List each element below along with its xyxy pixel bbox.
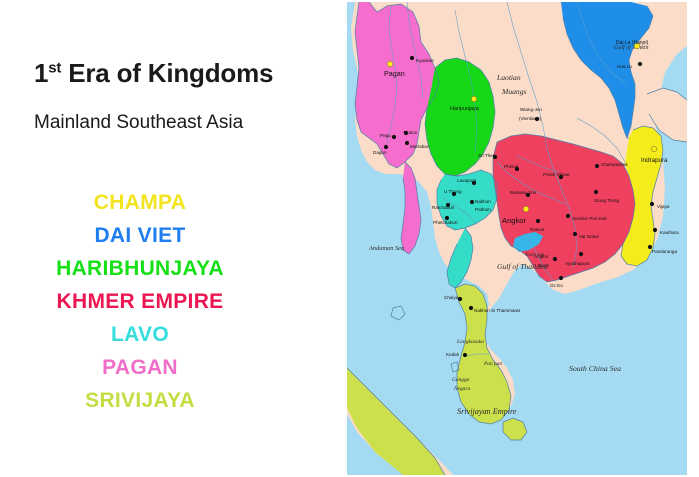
city-label-phimai: Phimai: [504, 164, 518, 169]
city-label-pathom: Pathom: [475, 207, 491, 212]
city-label-vijaya: Vijaya: [657, 204, 670, 209]
city-label-panduranga: Panduranga: [652, 249, 677, 254]
city-marker-stung-treng: [594, 190, 598, 194]
kingdom-legend: CHAMPA DAI VIET HARIBHUNJAYA KHMER EMPIR…: [0, 192, 300, 423]
title-ordinal: st: [48, 59, 61, 76]
city-marker-sembor-prei-kuk: [566, 214, 570, 218]
city-label-lavapura: Lavapura: [457, 178, 477, 183]
city-label-kauthara: Kauthara: [660, 230, 679, 235]
city-label-chaiya: Chaiya: [444, 295, 459, 300]
city-label-vat-nokor: Vat Nokor: [579, 234, 600, 239]
city-marker-kauthara: [653, 228, 657, 232]
legend-label: DAI VIET: [94, 224, 185, 247]
city-marker-champassak: [595, 164, 599, 168]
capital-label-pagan: Pagan: [384, 69, 405, 78]
legend-label: HARIBHUNJAYA: [56, 257, 224, 280]
legend-item-khmer-empire: KHMER EMPIRE: [0, 291, 280, 312]
city-marker-roluos: [536, 219, 540, 223]
city-label-pegu: Pegu: [380, 133, 391, 138]
city-label-hoa-lu: Hoa Lu: [617, 64, 632, 69]
city-label-nakhon-si-thammarat: Nakhon Si Thammarat: [474, 308, 521, 313]
capital-label-indrapura: Indrapura: [641, 157, 668, 164]
region-label-gangga: Gangga: [452, 377, 470, 383]
city-marker-kedah: [463, 353, 467, 357]
capital-marker-indrapura: [651, 146, 657, 152]
subtitle: Mainland Southeast Asia: [34, 110, 284, 135]
legend-item-dai-viet: DAI VIET: [0, 225, 280, 246]
legend-item-haribhunjaya: HARIBHUNJAYA: [0, 258, 280, 279]
slide-root: 1st Era of Kingdoms Mainland Southeast A…: [0, 0, 699, 477]
city-label-wiang-jun: Wiang-Jun: [520, 107, 542, 112]
city-marker-nakhon: [470, 200, 474, 204]
city-marker-nakhon-si-thammarat: [469, 306, 473, 310]
city-label-preah-vihear: Preah Vihear: [543, 172, 570, 177]
city-label-nakhon: Nakhon: [475, 199, 491, 204]
region-label-laotian: Laotian: [496, 73, 521, 82]
city-label-oc-eo: Oc Eo: [550, 283, 563, 288]
city-label-ratchaburi: Ratchaburi: [432, 205, 454, 210]
region-label-negara: Negara: [453, 386, 470, 392]
title-main: Era of Kingdoms: [68, 58, 273, 88]
city-marker-hoa-lu: [638, 62, 642, 66]
city-label-champassak: Champassak: [601, 162, 629, 167]
city-label-kyaukse: Kyaukse: [416, 58, 434, 63]
city-label-stung-treng: Stung Treng: [594, 198, 619, 203]
legend-label: PAGAN: [102, 356, 178, 379]
capital-marker-angkor: [523, 206, 529, 212]
city-label-roluos: Roluos: [530, 227, 545, 232]
city-label-angkor: Angkor: [534, 254, 549, 259]
region-label-pan-pan: Pan pan: [483, 361, 502, 367]
text-panel: 1st Era of Kingdoms Mainland Southeast A…: [0, 0, 345, 477]
legend-item-lavo: LAVO: [0, 324, 280, 345]
city-marker-vat-nokor: [573, 232, 577, 236]
city-label-sri-thep: Sri Thep: [478, 153, 496, 158]
city-label-vientiane: (Vientiane): [519, 116, 542, 121]
region-label-langkasuka: Langkasuka: [456, 339, 484, 345]
city-label-sembor-prei-kuk: Sembor Prei Kuk: [572, 216, 607, 221]
legend-label: CHAMPA: [94, 191, 186, 214]
city-marker-vijaya: [650, 202, 654, 206]
city-label-thaton: Thaton: [403, 130, 418, 135]
region-label-muangs: Muangs: [501, 87, 527, 96]
title-number: 1: [34, 58, 48, 88]
city-label-dagon: Dagon: [373, 150, 387, 155]
legend-item-srivijaya: SRIVIJAYA: [0, 390, 280, 411]
city-marker-kyaukse: [410, 56, 414, 60]
city-marker-chaiya: [458, 297, 462, 301]
region-label-srivijayan-empire: Srivijayan Empire: [457, 407, 517, 416]
capital-label-haripunjaya: Haripunjaya: [450, 106, 479, 112]
city-marker-dagon: [384, 145, 388, 149]
city-label-u-thong: U Thong: [444, 189, 462, 194]
city-label-banteay-srei: Banteay Srei: [510, 190, 536, 195]
city-marker-angkor: [553, 257, 557, 261]
legend-item-champa: CHAMPA: [0, 192, 280, 213]
city-label-borei: Borei: [538, 263, 549, 268]
capital-label-dai-la-hanoi: Dai La (Hanoi): [616, 40, 649, 46]
capital-label-angkor: Angkor: [502, 216, 527, 225]
capital-marker-pagan: [387, 61, 393, 67]
capital-marker-haripunjaya: [471, 96, 477, 102]
legend-label: LAVO: [111, 323, 169, 346]
sea-label-south-china-sea: South China Sea: [569, 364, 621, 373]
city-marker-oc-eo: [559, 276, 563, 280]
page-title: 1st Era of Kingdoms: [34, 58, 273, 89]
city-label-phetchaburi: Phetchaburi: [433, 220, 458, 225]
map-panel: Gulf of Tonkin Andaman Sea Gulf of Thail…: [347, 2, 687, 475]
legend-label: KHMER EMPIRE: [57, 290, 224, 313]
city-label-kedah: Kedah: [446, 352, 460, 357]
city-marker-pegu: [392, 135, 396, 139]
legend-label: SRIVIJAYA: [85, 389, 195, 412]
city-marker-martaban: [405, 141, 409, 145]
city-label-martaban: Martaban: [410, 144, 430, 149]
city-label-vyadhapura: Vyadhapura: [565, 261, 590, 266]
sea-label-andaman-sea: Andaman Sea: [368, 245, 404, 252]
southeast-asia-map: Gulf of Tonkin Andaman Sea Gulf of Thail…: [347, 2, 687, 475]
city-marker-vyadhapura: [579, 252, 583, 256]
legend-item-pagan: PAGAN: [0, 357, 280, 378]
